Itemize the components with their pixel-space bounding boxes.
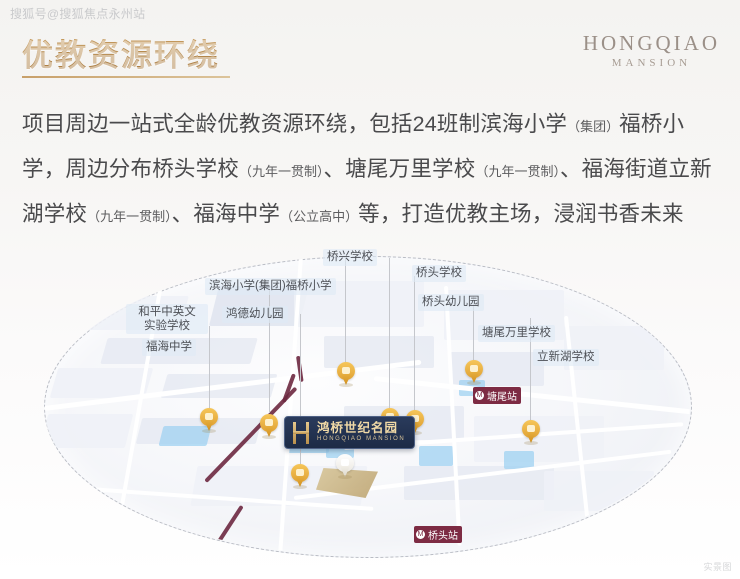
pin-dot-icon xyxy=(341,459,349,466)
project-badge-text: 鸿桥世纪名园 HONGQIAO MANSION xyxy=(317,421,405,444)
map-pin-tangweiwanli[interactable] xyxy=(465,360,483,384)
map-label-hepingzhongying: 和平中英文 实验学校 xyxy=(126,304,208,334)
leader-line xyxy=(389,258,390,413)
project-name: 鸿桥世纪名园 xyxy=(317,421,405,435)
map-pin-hongdeyoueryuan[interactable] xyxy=(291,464,309,488)
h-logo-icon xyxy=(291,422,311,444)
pin-shadow xyxy=(467,381,481,385)
project-badge[interactable]: 鸿桥世纪名园 HONGQIAO MANSION xyxy=(284,416,415,449)
body-copy: 项目周边一站式全龄优教资源环绕，包括24班制滨海小学（集团）福桥小学，周边分布桥… xyxy=(22,103,722,238)
map-label-lixinhuxuexiao: 立新湖学校 xyxy=(533,349,599,366)
copy-note-4: （九年一贯制） xyxy=(87,209,172,224)
metro-station-label: 桥头站 xyxy=(428,527,458,542)
copy-note-3: （九年一贯制） xyxy=(475,164,560,179)
brand-logo: HONGQIAO MANSION xyxy=(583,32,720,69)
metro-line xyxy=(210,505,243,553)
brand-subtitle: MANSION xyxy=(583,57,720,69)
pin-dot-icon xyxy=(342,367,350,374)
map-label-qiaotouyoueryuan: 桥头幼儿园 xyxy=(418,294,484,311)
map-label-qiaotouxuexiao: 桥头学校 xyxy=(412,265,466,282)
pin-dot-icon xyxy=(296,469,304,476)
copy-seg-5: 、福海中学 xyxy=(172,202,281,226)
map-label-line2: 实验学校 xyxy=(130,319,204,333)
leader-line xyxy=(345,258,346,368)
metro-icon: M xyxy=(475,391,484,400)
map-pin-project-site[interactable] xyxy=(336,454,354,478)
watermark-bottom: 实景图 xyxy=(703,560,732,573)
pin-dot-icon xyxy=(470,365,478,372)
map-pin-qiaoxingxuexiao[interactable] xyxy=(337,362,355,386)
metro-icon: M xyxy=(416,530,425,539)
pin-shadow xyxy=(339,383,353,387)
pin-shadow xyxy=(202,429,216,433)
copy-seg-3: 、塘尾万里学校 xyxy=(324,157,476,181)
brand-name: HONGQIAO xyxy=(583,32,720,55)
pin-dot-icon xyxy=(265,419,273,426)
map-pin-fuhaizhongxue[interactable] xyxy=(260,414,278,438)
watermark-top: 搜狐号@搜狐焦点永州站 xyxy=(10,5,145,22)
map-block xyxy=(44,414,133,448)
map-content xyxy=(44,256,690,556)
map-label-binhaixiaoxue: 滨海小学(集团)福桥小学 xyxy=(205,278,336,295)
metro-station-qiaotou[interactable]: M 桥头站 xyxy=(414,526,462,543)
copy-seg-1: 项目周边一站式全龄优教资源环绕，包括24班制滨海小学 xyxy=(22,112,567,136)
map-label-qiaoxingxuexiao: 桥兴学校 xyxy=(323,249,377,266)
school-parcel xyxy=(419,446,453,466)
pin-shadow xyxy=(524,441,538,445)
leader-line xyxy=(414,276,415,416)
map-label-fuhaizhongxue: 福海中学 xyxy=(142,339,196,356)
poster-page: 搜狐号@搜狐焦点永州站 优教资源环绕 HONGQIAO MANSION 项目周边… xyxy=(0,0,740,579)
project-subtitle: HONGQIAO MANSION xyxy=(317,435,405,444)
leader-line xyxy=(209,326,210,414)
map-block xyxy=(544,471,654,511)
map-label-tangweiwanli: 塘尾万里学校 xyxy=(478,325,555,342)
page-title: 优教资源环绕 xyxy=(22,30,220,75)
copy-note-2: （九年一贯制） xyxy=(239,164,324,179)
location-map: 和平中英文 实验学校 福海中学 鸿德幼儿园 滨海小学(集团)福桥小学 桥兴学校 … xyxy=(0,236,740,579)
pin-shadow xyxy=(262,435,276,439)
map-label-hongdeyoueryuan: 鸿德幼儿园 xyxy=(222,306,288,323)
copy-note-1: （集团） xyxy=(567,119,619,134)
map-pin-hepingzhongying[interactable] xyxy=(200,408,218,432)
metro-station-label: 塘尾站 xyxy=(487,388,517,403)
map-label-line1: 和平中英文 xyxy=(130,305,204,319)
title-underline xyxy=(22,76,230,78)
pin-shadow xyxy=(338,475,352,479)
pin-shadow xyxy=(293,485,307,489)
pin-dot-icon xyxy=(205,413,213,420)
map-pin-lixinhuxuexiao[interactable] xyxy=(522,420,540,444)
pin-dot-icon xyxy=(527,425,535,432)
copy-note-5: （公立高中） xyxy=(280,209,358,224)
copy-seg-6: 等，打造优教主场，浸润书香未来 xyxy=(358,202,684,226)
metro-station-tangwei[interactable]: M 塘尾站 xyxy=(473,387,521,404)
